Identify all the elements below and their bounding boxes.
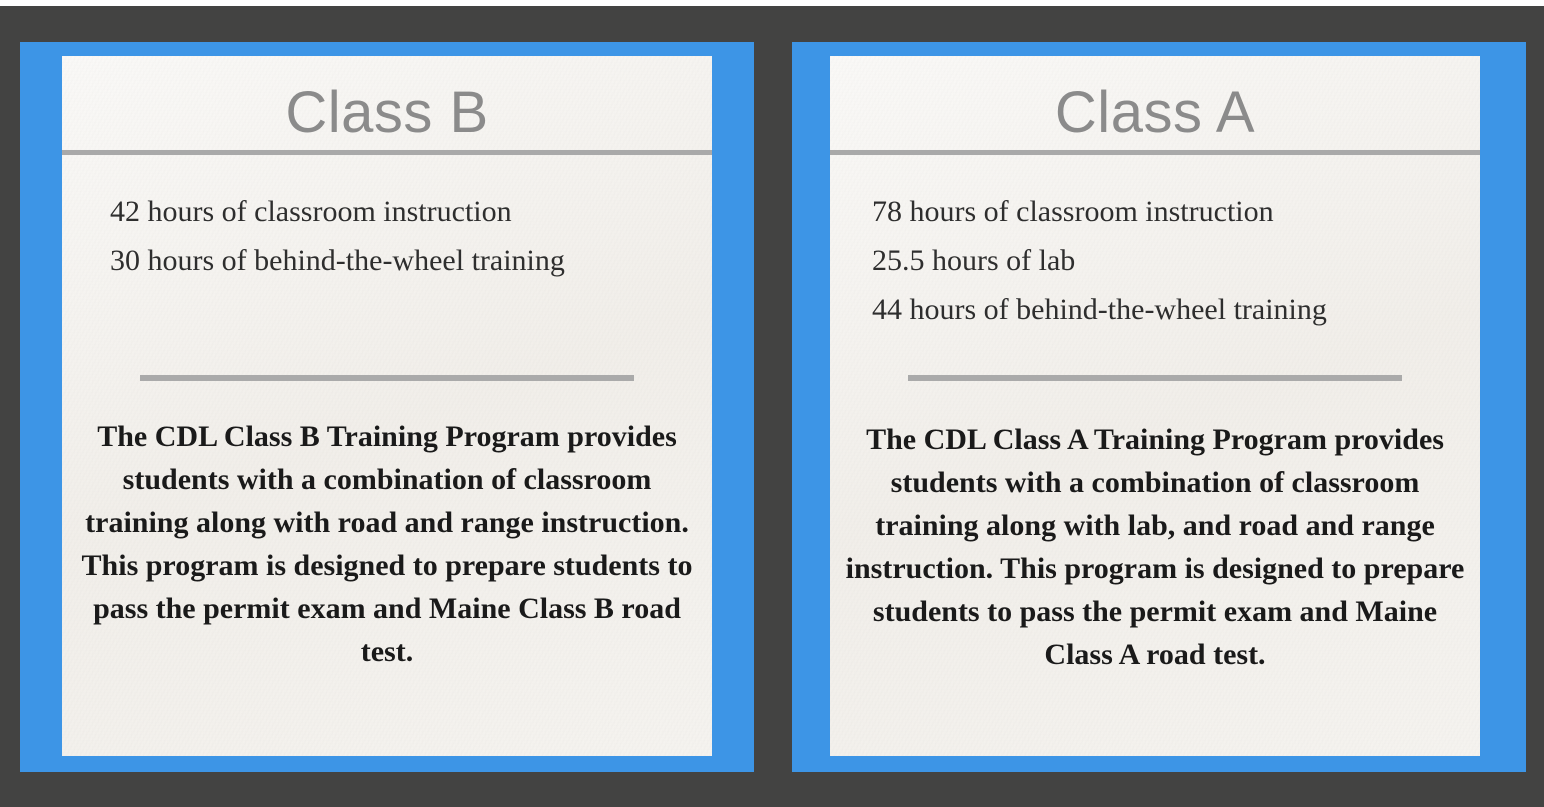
list-item: 44 hours of behind-the-wheel training (872, 285, 1460, 334)
list-item: 25.5 hours of lab (872, 236, 1460, 285)
class-a-hours-list: 78 hours of classroom instruction 25.5 h… (872, 187, 1460, 334)
class-b-section-divider (140, 375, 634, 381)
list-item: 30 hours of behind-the-wheel training (110, 236, 692, 285)
class-a-header-divider (830, 150, 1480, 155)
class-b-title: Class B (62, 78, 712, 148)
class-a-title: Class A (830, 78, 1480, 148)
class-b-card[interactable]: Class B 42 hours of classroom instructio… (20, 42, 754, 772)
class-a-description: The CDL Class A Training Program provide… (840, 418, 1470, 676)
slide-canvas: Class B 42 hours of classroom instructio… (0, 0, 1544, 807)
class-b-panel: Class B 42 hours of classroom instructio… (62, 56, 712, 756)
class-b-header-divider (62, 150, 712, 155)
class-a-panel: Class A 78 hours of classroom instructio… (830, 56, 1480, 756)
class-a-card[interactable]: Class A 78 hours of classroom instructio… (792, 42, 1526, 772)
class-b-description: The CDL Class B Training Program provide… (72, 415, 702, 673)
list-item: 78 hours of classroom instruction (872, 187, 1460, 236)
class-b-hours-list: 42 hours of classroom instruction 30 hou… (110, 187, 692, 285)
class-a-section-divider (908, 375, 1402, 381)
list-item: 42 hours of classroom instruction (110, 187, 692, 236)
